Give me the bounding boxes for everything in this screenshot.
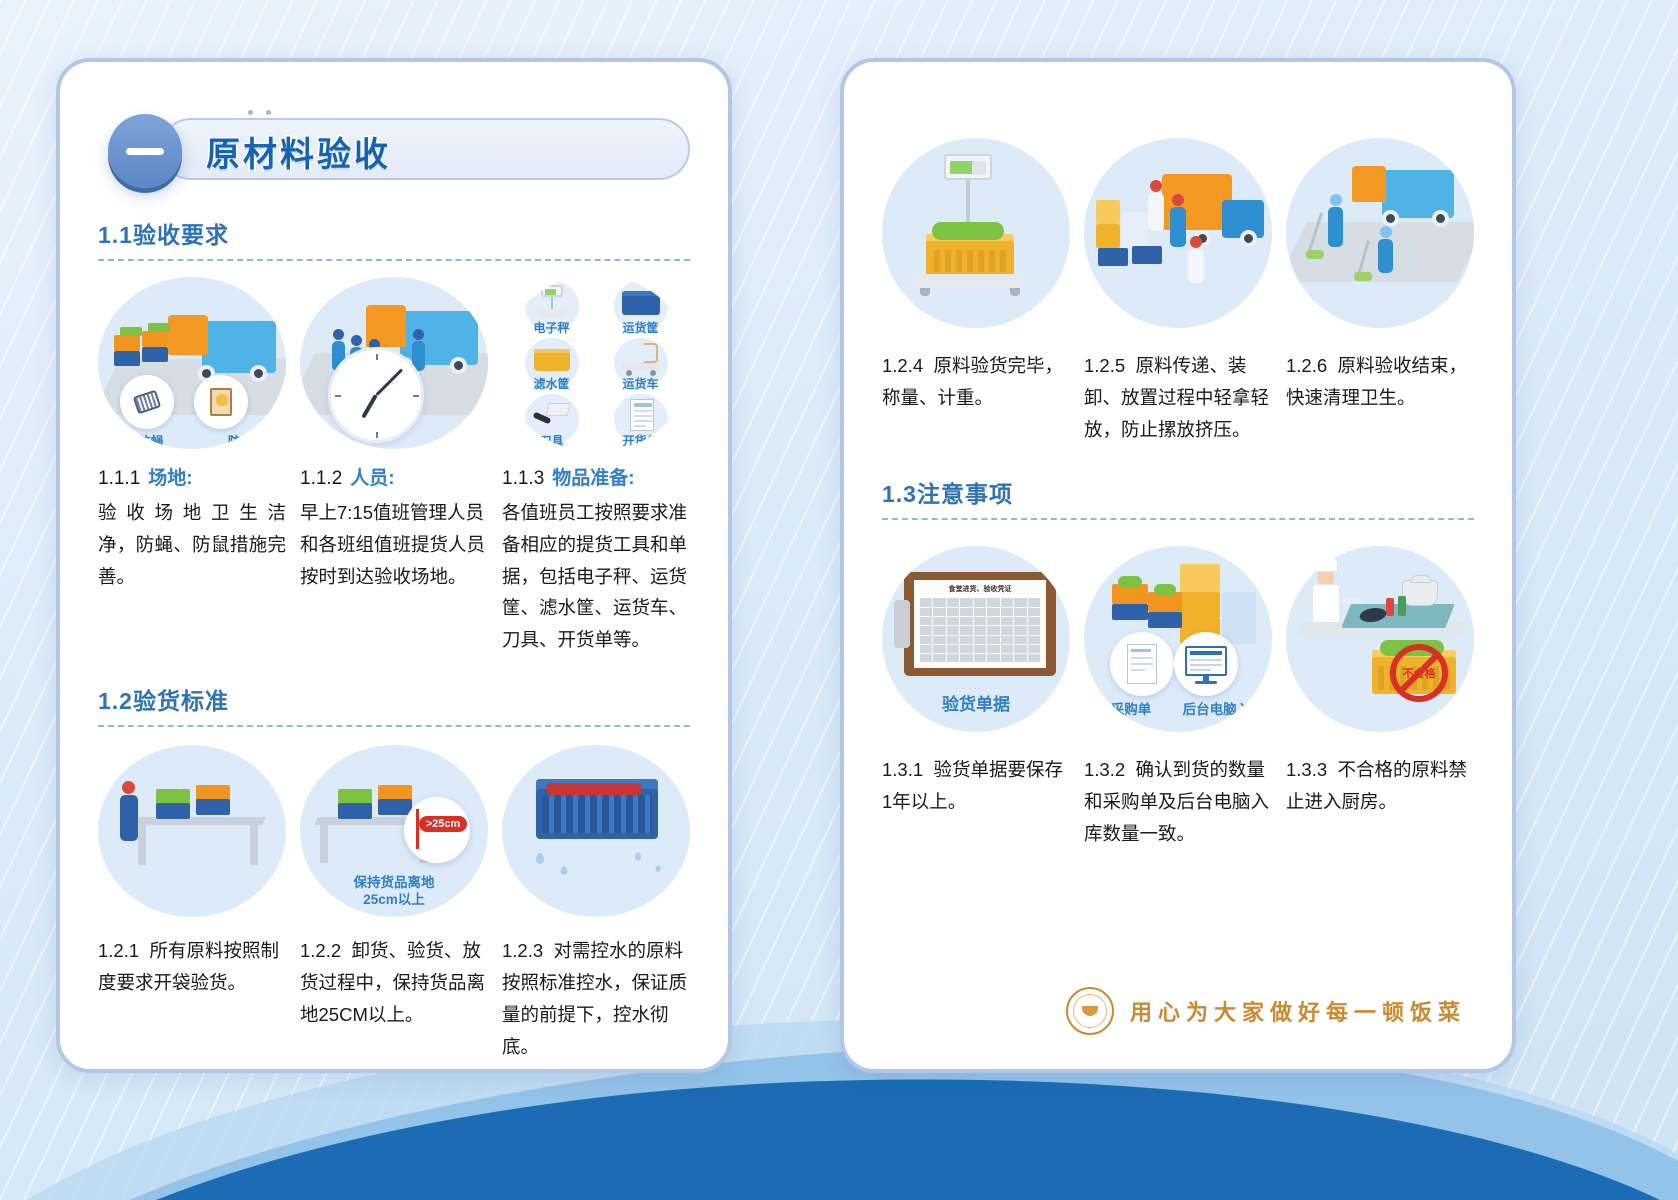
rodent-prevention-icon	[194, 375, 248, 429]
text-row-1-3: 1.3.1 验货单据要保存1年以上。 1.3.2 确认到货的数量和采购单及后台电…	[882, 754, 1474, 849]
text-row-1-2: 1.2.1 所有原料按照制度要求开袋验货。 1.2.2 卸货、验货、放货过程中，…	[98, 935, 690, 1062]
item-index: 1.2.5	[1084, 355, 1125, 376]
illustration-cell-tools: 电子秤 运货筐	[502, 277, 690, 449]
item-index: 1.3.2	[1084, 759, 1125, 780]
purchase-order-icon	[1110, 632, 1174, 696]
item-name: 场地:	[148, 468, 192, 489]
illustration-cell-loading	[1084, 138, 1272, 328]
item-name: 物品准备:	[552, 468, 634, 489]
receipt-caption: 验货单据	[882, 690, 1070, 715]
caption-purchase-order: 采购单	[1086, 698, 1176, 718]
section-heading-1-2: 1.2验货标准	[98, 682, 690, 727]
brand-seal-icon	[1066, 987, 1114, 1035]
item-index: 1.3.1	[882, 759, 923, 780]
section-heading-1-1: 1.1验收要求	[98, 216, 690, 261]
item-index: 1.2.2	[300, 940, 341, 961]
section-divider	[98, 725, 690, 727]
weighing-scene	[882, 138, 1070, 328]
illustration-cell-25cm: >25cm 保持货品离地 25cm以上	[300, 745, 488, 917]
illustration-cell-kitchen: 不合格	[1286, 546, 1474, 732]
clock-icon	[328, 347, 424, 443]
page-title: 原材料验收	[206, 127, 391, 176]
section-divider	[882, 518, 1474, 520]
illustration-cell-staff	[300, 277, 488, 449]
item-index: 1.1.2	[300, 468, 342, 489]
text-cell-1-2-4: 1.2.4 原料验货完毕，称量、计重。	[882, 350, 1070, 445]
item-text: 各值班员工按照要求准备相应的提货工具和单据，包括电子秤、运货筐、滤水筐、运货车、…	[502, 497, 690, 656]
illustration-cell-drain	[502, 745, 690, 917]
section-divider	[98, 259, 690, 261]
illustration-cell-venue: 防蝇防鼠	[98, 277, 286, 449]
item-text: 早上7:15值班管理人员和各班组值班提货人员按时到达验收场地。	[300, 497, 488, 592]
text-row-1-1: 1.1.1场地: 验 收 场 地 卫 生 洁净，防蝇、防鼠措施完善。 1.1.2…	[98, 463, 690, 656]
page-left: 原材料验收 1.1验收要求	[56, 58, 732, 1073]
banner-number-badge	[108, 114, 182, 188]
text-cell-1-2-6: 1.2.6 原料验收结束，快速清理卫生。	[1286, 350, 1474, 445]
tool-electronic-scale: 电子秤	[508, 279, 595, 334]
clearance-badge: >25cm	[419, 816, 468, 832]
main-banner: 原材料验收	[98, 114, 690, 186]
footer-brand: 用心为大家做好每一顿饭菜	[1066, 987, 1466, 1035]
tools-scene: 电子秤 运货筐	[502, 277, 690, 449]
illustration-row-1-1: 防蝇防鼠	[98, 277, 690, 449]
item-index: 1.1.3	[502, 468, 544, 489]
text-cell-1-3-1: 1.3.1 验货单据要保存1年以上。	[882, 754, 1070, 849]
item-index: 1.2.4	[882, 355, 923, 376]
illustration-cell-matching: 采购单后台电脑入库	[1084, 546, 1272, 732]
matching-scene: 采购单后台电脑入库	[1084, 546, 1272, 732]
item-index: 1.2.6	[1286, 355, 1327, 376]
illustration-cell-receipt: 食堂进货、验收凭证	[882, 546, 1070, 732]
tool-transport-basket: 运货筐	[597, 279, 684, 334]
text-cell-1-3-2: 1.3.2 确认到货的数量和采购单及后台电脑入库数量一致。	[1084, 754, 1272, 849]
item-index: 1.3.3	[1286, 759, 1327, 780]
illustration-row-1-3: 食堂进货、验收凭证	[882, 546, 1474, 732]
kitchen-scene: 不合格	[1286, 546, 1474, 732]
text-cell-1-3-3: 1.3.3 不合格的原料禁止进入厨房。	[1286, 754, 1474, 849]
receipt-doc-title: 食堂进货、验收凭证	[920, 584, 1040, 594]
text-cell-1-2-3: 1.2.3 对需控水的原料按照标准控水，保证质量的前提下，控水彻底。	[502, 935, 690, 1062]
item-index: 1.1.1	[98, 468, 140, 489]
clearance-scene: >25cm 保持货品离地 25cm以上	[300, 745, 488, 917]
item-text: 验 收 场 地 卫 生 洁净，防蝇、防鼠措施完善。	[98, 497, 286, 592]
venue-scene: 防蝇防鼠	[98, 277, 286, 449]
drain-scene	[502, 745, 690, 917]
page-right: 1.2.4 原料验货完毕，称量、计重。 1.2.5 原料传递、装卸、放置过程中轻…	[840, 58, 1516, 1073]
section-heading-1-3: 1.3注意事项	[882, 475, 1474, 520]
loading-scene	[1084, 138, 1272, 328]
receipt-scene: 食堂进货、验收凭证	[882, 546, 1070, 732]
staff-scene	[300, 277, 488, 449]
text-row-1-2-cont: 1.2.4 原料验货完毕，称量、计重。 1.2.5 原料传递、装卸、放置过程中轻…	[882, 350, 1474, 445]
caption-computer-entry: 后台电脑入库	[1176, 698, 1270, 718]
tool-drain-basket: 滤水筐	[508, 336, 595, 391]
section-title: 1.2验货标准	[98, 682, 690, 716]
forbidden-badge-text: 不合格	[1396, 650, 1442, 696]
illustration-cell-weighing	[882, 138, 1070, 328]
caption-fly: 防蝇	[102, 431, 200, 449]
open-bag-scene	[98, 745, 286, 917]
section-title: 1.3注意事项	[882, 475, 1474, 509]
tool-transport-cart: 运货车	[597, 336, 684, 391]
clearance-callout: >25cm	[404, 797, 470, 863]
brand-slogan: 用心为大家做好每一顿饭菜	[1130, 995, 1466, 1027]
item-name: 人员:	[350, 468, 394, 489]
fly-prevention-icon	[120, 375, 174, 429]
text-cell-1-2-2: 1.2.2 卸货、验货、放货过程中，保持货品离地25CM以上。	[300, 935, 488, 1062]
illustration-row-1-2-cont	[882, 138, 1474, 328]
illustration-cell-open-bag	[98, 745, 286, 917]
text-cell-1-1-3: 1.1.3物品准备: 各值班员工按照要求准备相应的提货工具和单据，包括电子秤、运…	[502, 463, 690, 656]
text-cell-1-1-2: 1.1.2人员: 早上7:15值班管理人员和各班组值班提货人员按时到达验收场地。	[300, 463, 488, 656]
clearance-caption-2: 25cm以上	[300, 892, 488, 909]
text-cell-1-1-1: 1.1.1场地: 验 收 场 地 卫 生 洁净，防蝇、防鼠措施完善。	[98, 463, 286, 656]
section-title: 1.1验收要求	[98, 216, 690, 250]
item-index: 1.2.1	[98, 940, 139, 961]
text-cell-1-2-5: 1.2.5 原料传递、装卸、放置过程中轻拿轻放，防止摞放挤压。	[1084, 350, 1272, 445]
tool-goods-order: 开货单	[597, 392, 684, 447]
clearance-caption-1: 保持货品离地	[300, 875, 488, 892]
caption-rodent: 防鼠	[200, 431, 283, 449]
banner-dots	[248, 110, 271, 115]
number-one-glyph	[126, 148, 164, 155]
computer-entry-icon	[1174, 632, 1238, 696]
text-cell-1-2-1: 1.2.1 所有原料按照制度要求开袋验货。	[98, 935, 286, 1062]
forbidden-icon: 不合格	[1390, 644, 1448, 702]
cleaning-scene	[1286, 138, 1474, 328]
illustration-cell-cleaning	[1286, 138, 1474, 328]
tool-knife: 刀具	[508, 392, 595, 447]
illustration-row-1-2: >25cm 保持货品离地 25cm以上	[98, 745, 690, 917]
item-index: 1.2.3	[502, 940, 543, 961]
bowl-glyph	[1082, 1006, 1098, 1016]
